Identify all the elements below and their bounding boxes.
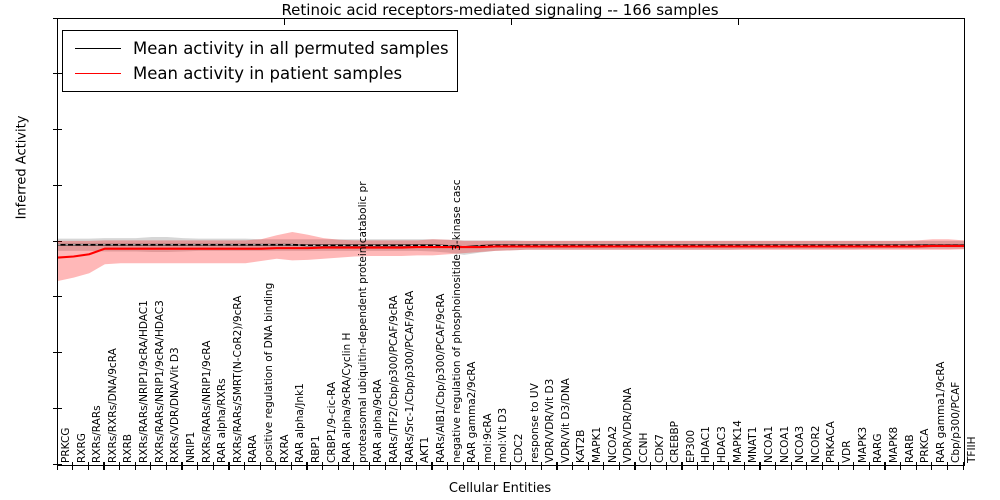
x-tick-mark (713, 462, 714, 470)
legend-label-patient: Mean activity in patient samples (133, 64, 402, 83)
x-tick-mark (541, 462, 542, 470)
x-tick-label: MAPK8 (889, 427, 900, 463)
x-tick-mark (853, 462, 854, 470)
x-tick-mark (338, 462, 339, 470)
x-tick-mark (728, 462, 729, 470)
x-tick-label: RBP1 (311, 435, 322, 463)
x-tick-label: EP300 (686, 430, 697, 463)
x-tick-mark (213, 462, 214, 470)
x-tick-mark (884, 462, 885, 470)
x-tick-label: TFIIH (967, 436, 978, 463)
x-tick-mark (838, 462, 839, 470)
x-tick-mark (510, 462, 511, 470)
x-tick-label: RAR alpha/RXRs (217, 378, 228, 463)
x-tick-label: CRBP1/9-cic-RA (327, 382, 338, 463)
legend-item-patient: Mean activity in patient samples (69, 61, 449, 86)
x-tick-label: mol:9cRA (483, 413, 494, 463)
x-tick-mark (244, 462, 245, 470)
x-tick-mark (744, 462, 745, 470)
figure-canvas: Retinoic acid receptors-mediated signali… (0, 0, 1000, 500)
x-tick-label: RAR alpha/9cRA/Cyclin H (342, 333, 353, 463)
x-tick-mark (72, 462, 73, 470)
x-tick-label: VDR/Vit D3/DNA (561, 378, 572, 463)
x-tick-label: NCOA2 (608, 426, 619, 463)
x-tick-mark (260, 462, 261, 470)
x-tick-mark (150, 462, 151, 470)
x-tick-label: RARs/AIB1/Cbp/p300/PCAF/9cRA (436, 294, 447, 463)
x-tick-mark (228, 462, 229, 470)
x-tick-label: NRIP1 (186, 432, 197, 463)
x-tick-mark (572, 462, 573, 470)
x-tick-label: PRKCG (61, 428, 72, 463)
x-tick-label: CREBBP (670, 421, 681, 463)
x-tick-mark (963, 462, 964, 470)
x-tick-label: RXRG (77, 433, 88, 463)
x-tick-label: HDAC3 (717, 426, 728, 463)
x-tick-mark (947, 462, 948, 470)
x-tick-label: CCNH (639, 433, 650, 463)
x-tick-label: RXRB (123, 434, 134, 463)
x-tick-mark (463, 462, 464, 470)
x-tick-label: AKT1 (420, 437, 431, 463)
x-tick-mark (369, 462, 370, 470)
x-tick-label: RAR gamma2/9cRA (467, 362, 478, 463)
x-tick-mark (385, 462, 386, 470)
x-tick-label: RAR gamma1/9cRA (936, 362, 947, 463)
legend-swatch-permuted (75, 48, 121, 49)
x-tick-mark (634, 462, 635, 470)
legend-swatch-patient (75, 73, 121, 74)
x-tick-mark (166, 462, 167, 470)
x-tick-mark (869, 462, 870, 470)
x-tick-mark (556, 462, 557, 470)
x-tick-label: RXRs/RARs/NRIP1/9cRA (202, 341, 213, 463)
x-tick-mark (697, 462, 698, 470)
x-tick-mark (119, 462, 120, 470)
x-tick-mark (447, 462, 448, 470)
x-tick-mark (775, 462, 776, 470)
x-tick-label: mol:Vit D3 (498, 408, 509, 463)
x-tick-label: VDR (842, 440, 853, 463)
x-tick-mark (931, 462, 932, 470)
x-tick-label: MAPK1 (592, 427, 603, 463)
x-tick-label: RXRA (280, 434, 291, 463)
x-tick-mark (588, 462, 589, 470)
x-tick-label: NCOA3 (795, 426, 806, 463)
legend-item-permuted: Mean activity in all permuted samples (69, 36, 449, 61)
x-tick-mark (322, 462, 323, 470)
x-tick-mark (494, 462, 495, 470)
x-tick-mark (478, 462, 479, 470)
x-axis-label: Cellular Entities (0, 481, 1000, 496)
x-tick-label: proteasomal ubiquitin-dependent protein … (358, 181, 369, 463)
x-tick-mark (181, 462, 182, 470)
x-tick-label: RARs/TIF2/Cbp/p300/PCAF/9cRA (389, 296, 400, 464)
x-tick-mark (916, 462, 917, 470)
x-tick-label: MAPK3 (858, 427, 869, 463)
chart-legend: Mean activity in all permuted samples Me… (62, 30, 458, 92)
x-tick-label: NCOA1 (780, 426, 791, 463)
x-tick-label: RXRs/RARs/NRIP1/9cRA/HDAC1 (139, 300, 150, 463)
x-tick-label: RXRs/VDR/DNA/Vit D3 (170, 347, 181, 463)
x-tick-mark (103, 462, 104, 470)
x-tick-mark (681, 462, 682, 470)
x-tick-label: NCOR2 (811, 426, 822, 463)
x-tick-mark (400, 462, 401, 470)
x-tick-label: MAPK14 (733, 420, 744, 463)
x-tick-label: RXRs/RARs/SMRT(N-CoR2)/9cRA (233, 296, 244, 463)
x-tick-mark (619, 462, 620, 470)
top-tick-mark (738, 18, 739, 25)
x-tick-mark (275, 462, 276, 470)
x-tick-mark (416, 462, 417, 470)
x-tick-label: VDR/VDR/DNA (623, 388, 634, 463)
x-tick-label: RXRs/RARs (92, 405, 103, 463)
x-tick-mark (57, 462, 58, 470)
x-tick-mark (197, 462, 198, 470)
x-tick-label: NCOA1 (764, 426, 775, 463)
x-tick-label: RARG (873, 434, 884, 464)
x-tick-label: CDK7 (655, 434, 666, 463)
x-tick-mark (291, 462, 292, 470)
x-tick-mark (431, 462, 432, 470)
x-tick-label: Cbp/p300/PCAF (951, 382, 962, 463)
x-tick-mark (135, 462, 136, 470)
x-tick-label: CDC2 (514, 434, 525, 463)
x-tick-label: PRKCA (920, 429, 931, 463)
x-tick-label: RAR alpha/Jnk1 (295, 383, 306, 463)
x-tick-label: PRKACA (826, 421, 837, 463)
x-tick-label: negative regulation of phosphoinositide … (452, 180, 463, 464)
x-tick-mark (806, 462, 807, 470)
x-tick-mark (822, 462, 823, 470)
x-tick-label: RAR alpha/9cRA (373, 379, 384, 463)
x-tick-label: KAT2B (576, 430, 587, 463)
top-tick-mark (511, 18, 512, 25)
legend-label-permuted: Mean activity in all permuted samples (133, 39, 449, 58)
x-tick-label: RARB (905, 434, 916, 463)
x-tick-mark (666, 462, 667, 470)
x-tick-mark (353, 462, 354, 470)
x-tick-label: RXRs/RARs/NRIP1/9cRA/HDAC3 (155, 300, 166, 463)
x-tick-mark (88, 462, 89, 470)
top-tick-mark (284, 18, 285, 25)
x-tick-label: positive regulation of DNA binding (264, 283, 275, 463)
x-tick-label: response to UV (530, 383, 541, 463)
x-tick-mark (759, 462, 760, 470)
x-tick-mark (603, 462, 604, 470)
x-tick-mark (650, 462, 651, 470)
x-tick-mark (306, 462, 307, 470)
x-tick-mark (525, 462, 526, 470)
x-tick-label: VDR/VDR/Vit D3 (545, 379, 556, 463)
x-tick-label: RXRs/RXRs/DNA/9cRA (108, 348, 119, 463)
x-tick-mark (900, 462, 901, 470)
x-tick-label: RARA (248, 435, 259, 463)
x-tick-label: RARs/Src-1/Cbp/p300/PCAF/9cRA (405, 291, 416, 463)
x-tick-label: HDAC1 (701, 426, 712, 463)
x-tick-mark (791, 462, 792, 470)
x-tick-label: MNAT1 (748, 427, 759, 463)
